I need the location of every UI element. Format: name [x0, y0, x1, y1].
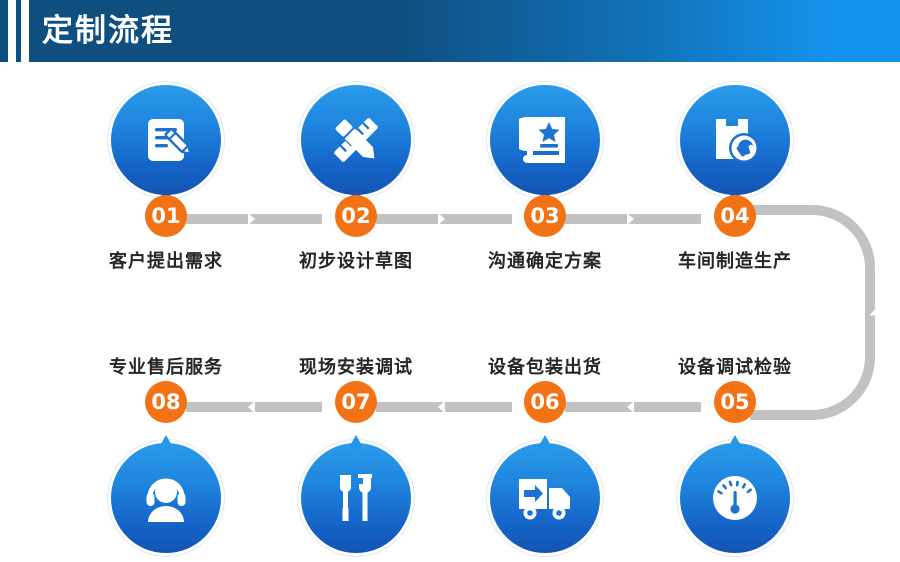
book-star-icon: [519, 113, 571, 167]
step-07-number: 07: [335, 381, 377, 423]
bubble-pointer: [347, 435, 365, 451]
step-03-number: 03: [524, 195, 566, 237]
step-07-label: 现场安装调试: [261, 353, 451, 379]
step-01-label: 客户提出需求: [71, 247, 261, 273]
chevron-right-icon-3: [627, 213, 634, 225]
step-04-number: 04: [714, 195, 756, 237]
step-08-label: 专业售后服务: [71, 353, 261, 379]
ruler-pencil-icon: [327, 111, 385, 169]
headset-person-icon: [139, 472, 193, 524]
step-02[interactable]: 02 初步设计草图: [276, 85, 436, 203]
step-01-icon-bubble: [111, 85, 221, 203]
bubble-pointer: [157, 435, 175, 451]
bubble-pointer: [536, 435, 554, 451]
factory-wrench-icon: [708, 113, 762, 167]
step-04[interactable]: 04 车间制造生产: [655, 85, 815, 203]
step-02-number: 02: [335, 195, 377, 237]
chevron-left-icon-1: [627, 401, 634, 413]
step-04-icon-bubble: [680, 85, 790, 203]
step-01-number: 01: [145, 195, 187, 237]
chevron-left-icon-2: [438, 401, 445, 413]
step-05-number: 05: [714, 381, 756, 423]
chevron-right-icon-2: [438, 213, 445, 225]
step-06[interactable]: 设备包装出货 06: [465, 345, 625, 553]
page-header: 定制流程: [0, 0, 900, 62]
chevron-left-icon-3: [248, 401, 255, 413]
header-accent-bar-1: [8, 0, 16, 62]
step-02-label: 初步设计草图: [261, 247, 451, 273]
chevron-right-icon-1: [248, 213, 255, 225]
step-01[interactable]: 01 客户提出需求: [86, 85, 246, 203]
bubble-pointer: [726, 435, 744, 451]
chevron-down-icon-curve: [870, 309, 882, 316]
document-pencil-icon: [139, 113, 193, 167]
connector-04-to-05-curve: [740, 205, 880, 420]
step-06-number: 06: [524, 381, 566, 423]
step-06-label: 设备包装出货: [450, 353, 640, 379]
page-title: 定制流程: [42, 8, 174, 54]
header-accent-bar-2: [21, 0, 29, 62]
step-05-icon-bubble: [680, 435, 790, 553]
step-02-icon-bubble: [301, 85, 411, 203]
step-08-number: 08: [145, 381, 187, 423]
step-06-icon-bubble: [490, 435, 600, 553]
customization-flow-infographic: 定制流程: [0, 0, 900, 562]
step-07-icon-bubble: [301, 435, 411, 553]
delivery-truck-icon: [516, 475, 574, 521]
step-07[interactable]: 现场安装调试 07: [276, 345, 436, 553]
step-03-icon-bubble: [490, 85, 600, 203]
tools-icon: [331, 472, 381, 524]
step-08[interactable]: 专业售后服务 08: [86, 345, 246, 553]
step-03-label: 沟通确定方案: [450, 247, 640, 273]
gauge-icon: [708, 471, 762, 525]
step-03[interactable]: 03 沟通确定方案: [465, 85, 625, 203]
step-08-icon-bubble: [111, 435, 221, 553]
